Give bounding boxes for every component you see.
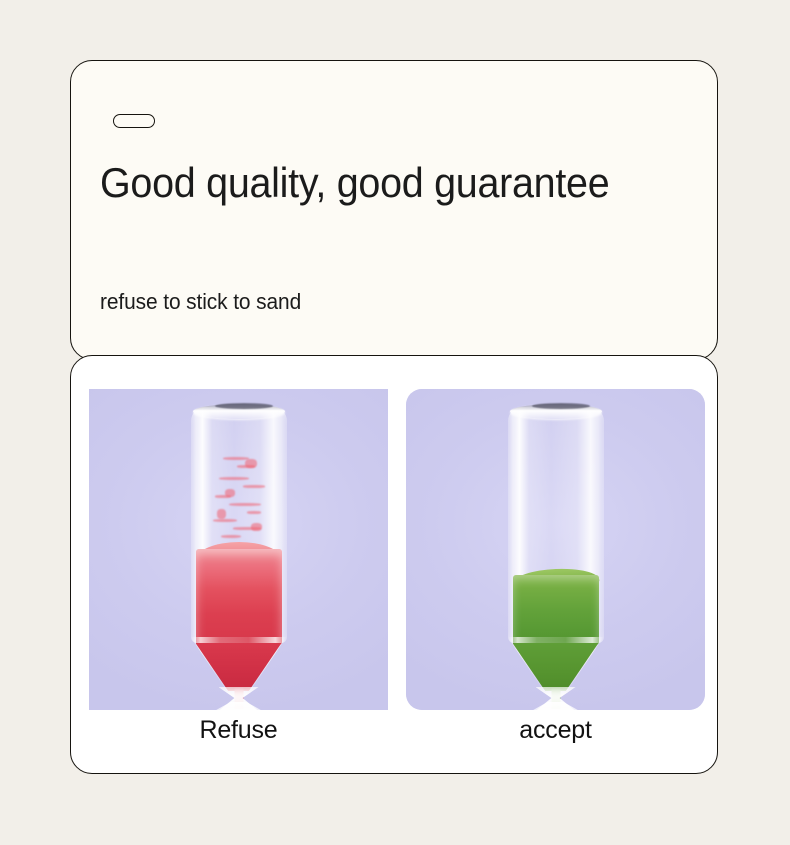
glass-rim-shadow (215, 403, 273, 409)
page-root: Good quality, good guarantee refuse to s… (0, 0, 790, 845)
glass-lower-bulb (523, 702, 589, 710)
product-photo-refuse (89, 389, 388, 710)
glass-lower-bulb (206, 702, 272, 710)
sand-column (513, 575, 599, 645)
hourglass-refuse (185, 399, 293, 710)
headline-card: Good quality, good guarantee refuse to s… (70, 60, 718, 360)
product-photo-accept (406, 389, 705, 710)
comparison-gallery (89, 389, 705, 710)
page-subtitle: refuse to stick to sand (100, 289, 301, 315)
page-title: Good quality, good guarantee (100, 161, 664, 206)
caption-refuse: Refuse (89, 716, 388, 745)
sand-column (196, 549, 282, 645)
speaker-grille-icon (113, 114, 155, 128)
caption-accept: accept (406, 716, 705, 745)
sand-cone (196, 643, 282, 691)
caption-row: Refuse accept (89, 716, 705, 745)
comparison-card: Refuse accept (70, 355, 718, 774)
hourglass-accept (502, 399, 610, 710)
sand-cone (513, 643, 599, 691)
glass-rim-shadow (532, 403, 590, 409)
